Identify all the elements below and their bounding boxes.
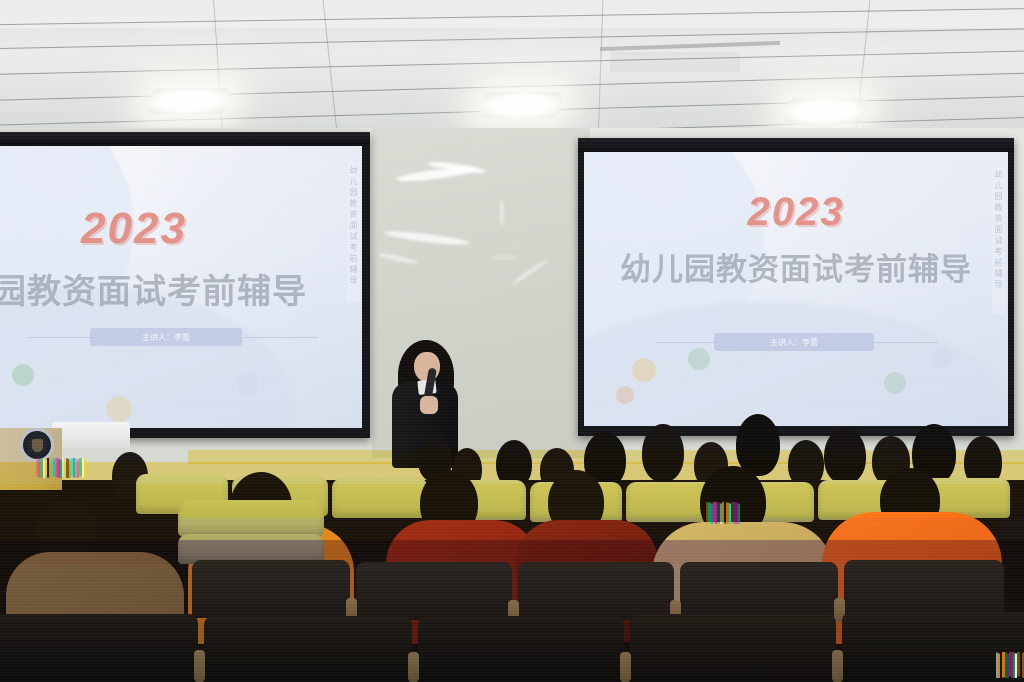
slide-dot: [632, 358, 656, 382]
slide-rule: [656, 342, 718, 343]
slide-presenter-pill: 主讲人：李蕾: [714, 333, 874, 351]
audience-head: [788, 440, 824, 488]
projection-screen-right: 2023 幼儿园教资面试考前辅导 主讲人：李蕾 幼儿园教资面试考前辅导: [578, 138, 1014, 436]
seat-post: [408, 652, 419, 682]
seat-post: [194, 650, 205, 682]
slide-dot: [884, 372, 906, 394]
audience-head: [642, 424, 684, 482]
auditorium-seat: [418, 616, 624, 682]
screen-top-bar: [578, 138, 1014, 152]
audience-head: [824, 428, 866, 484]
slide-rule: [244, 337, 318, 338]
slide-dot: [238, 374, 258, 394]
slide-rule: [874, 342, 938, 343]
ceiling-light-panel: [783, 98, 867, 124]
auditorium-seat: [842, 612, 1024, 682]
ceiling-light-panel: [147, 88, 231, 114]
screen-top-bar: [0, 132, 370, 146]
shield-icon: [32, 439, 43, 452]
ceiling-grid-line: [0, 49, 1024, 76]
slide-side-strip: 幼儿园教资面试考前辅导: [347, 162, 360, 302]
auditorium-seat: [630, 614, 836, 682]
slide-dot: [106, 396, 132, 422]
presenter-hand: [420, 396, 438, 414]
seat-post: [832, 650, 843, 682]
slide-dot: [616, 386, 634, 404]
slide-title: 幼儿园教资面试考前辅导: [584, 244, 1008, 289]
slide-year: 2023: [0, 204, 318, 254]
slide-side-strip: 幼儿园教资面试考前辅导: [992, 166, 1005, 314]
seat-post: [620, 652, 631, 682]
wall-glare: [378, 252, 418, 265]
lectern-top: [52, 422, 130, 448]
slide-title: 儿园教资面试考前辅导: [0, 264, 316, 313]
auditorium-seat: [204, 616, 412, 682]
ceiling-panel-shadow: [610, 52, 740, 72]
slide-presenter-pill: 主讲人：李蕾: [90, 328, 242, 346]
auditorium-seat: [178, 500, 324, 536]
slide-rule: [28, 337, 94, 338]
auditorium-seat: [0, 614, 198, 682]
auditorium-seat: [680, 562, 838, 620]
auditorium-seat: [332, 478, 428, 518]
ceiling-light-panel: [479, 92, 563, 118]
auditorium-seat: [844, 560, 1004, 618]
auditorium-seat: [356, 562, 512, 620]
lecture-hall-photo: 2023 儿园教资面试考前辅导 主讲人：李蕾 幼儿园教资面试考前辅导 2023 …: [0, 0, 1024, 682]
slide-dot: [12, 364, 34, 386]
wall-glare: [511, 258, 550, 286]
screen-surface-left: 2023 儿园教资面试考前辅导 主讲人：李蕾 幼儿园教资面试考前辅导: [0, 146, 362, 428]
ceiling-grid-line: [0, 27, 1024, 50]
slide-year: 2023: [584, 190, 1008, 235]
ceiling: [0, 0, 1024, 142]
wall-glare: [384, 229, 470, 247]
auditorium-seat: [518, 562, 674, 620]
slide-dot: [932, 348, 952, 368]
screen-surface-right: 2023 幼儿园教资面试考前辅导 主讲人：李蕾 幼儿园教资面试考前辅导: [584, 152, 1008, 426]
projection-screen-left: 2023 儿园教资面试考前辅导 主讲人：李蕾 幼儿园教资面试考前辅导: [0, 132, 370, 438]
ceiling-tile: [0, 0, 1024, 28]
slide-dot: [688, 348, 710, 370]
wall-glare: [500, 200, 504, 226]
ceiling-seam: [600, 41, 780, 51]
wall-glare: [492, 256, 516, 259]
school-crest-icon: [20, 428, 54, 462]
auditorium-seat: [192, 560, 350, 618]
